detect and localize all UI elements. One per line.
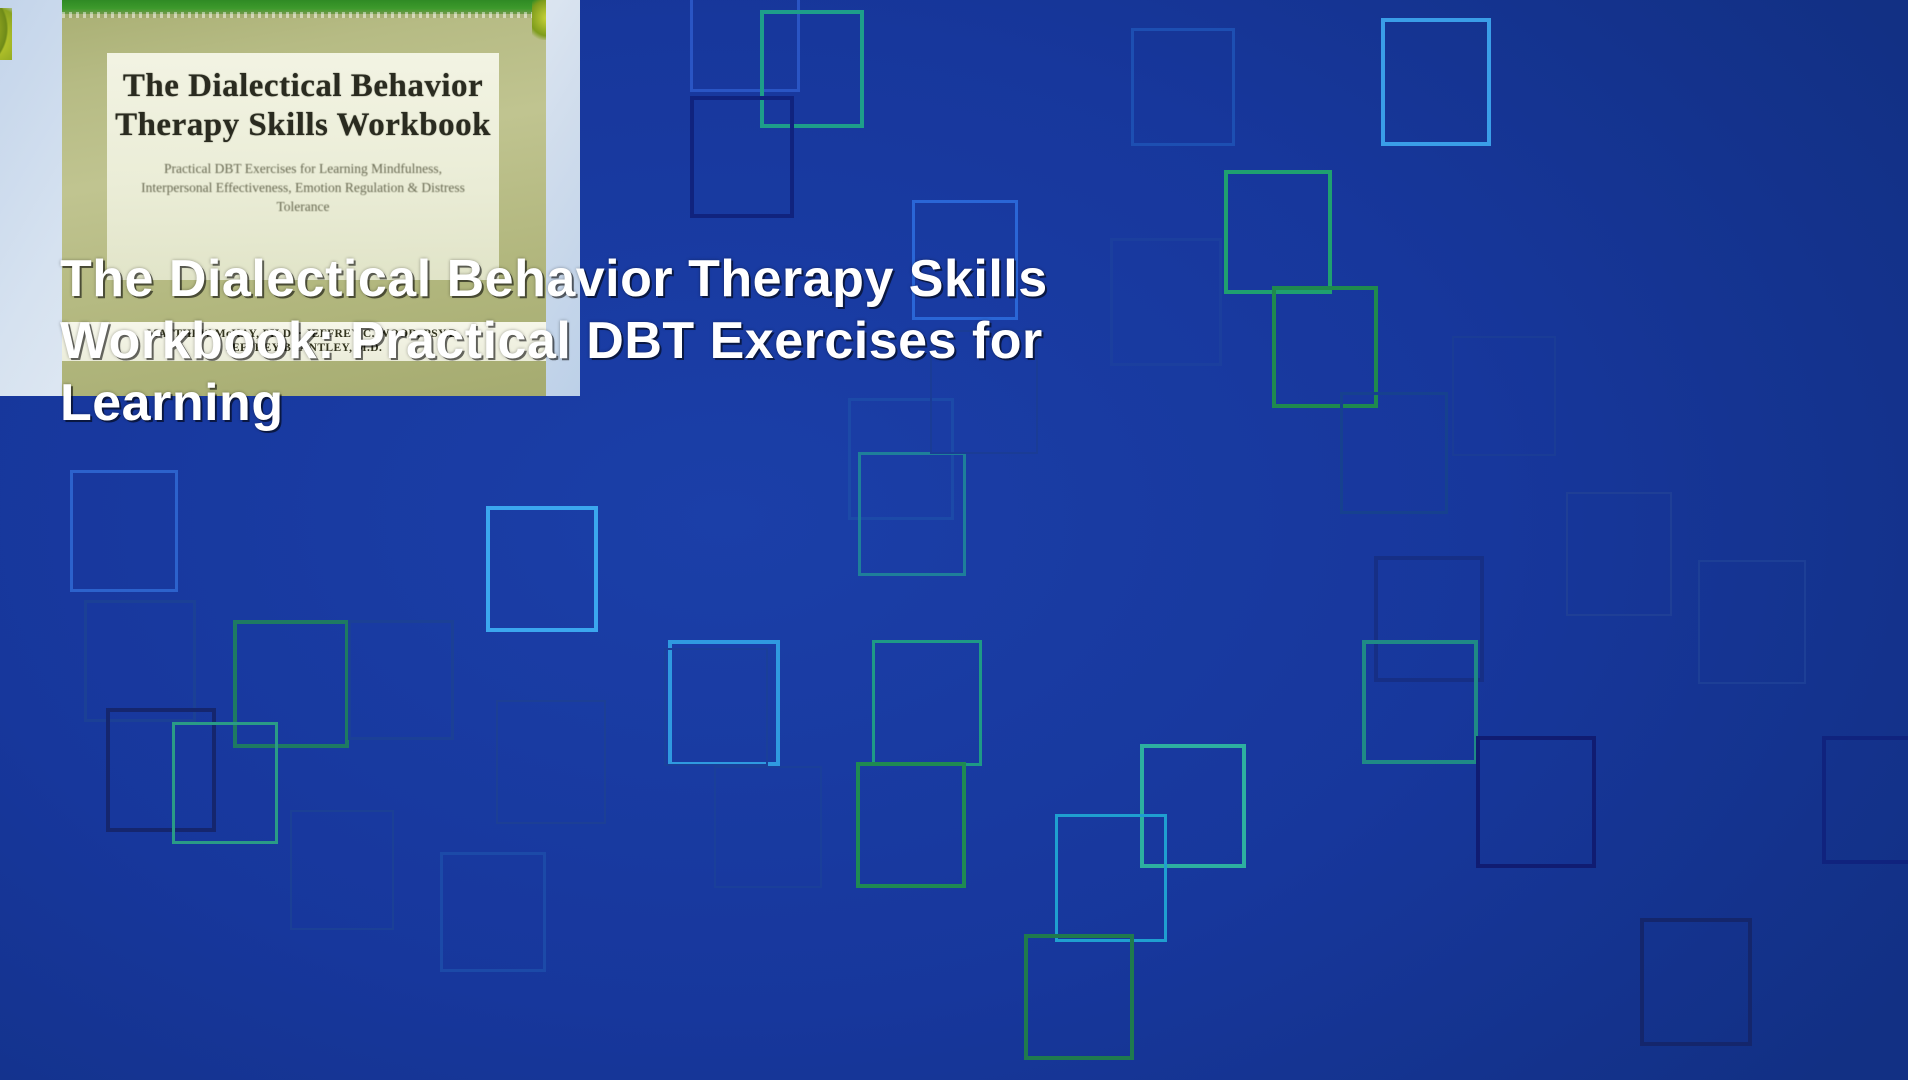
video-thumbnail: The Dialectical Behavior Therapy Skills … [0,0,1908,1080]
background-square [440,852,546,972]
background-square [172,722,278,844]
cover-top-band [62,0,546,14]
leaf-decoration-right-icon [532,0,546,40]
background-square [1566,492,1672,616]
background-square [714,766,822,888]
background-square [1272,286,1378,408]
background-square [856,762,966,888]
background-square [84,600,196,722]
caption-line-1: The Dialectical Behavior Therapy Skills [60,248,1240,310]
background-square [690,96,794,218]
background-square [290,810,394,930]
background-square [858,452,966,576]
background-square [1131,28,1235,146]
background-square [664,648,768,766]
background-square [1476,736,1596,868]
cover-subtitle: Practical DBT Exercises for Learning Min… [107,159,499,216]
background-square [872,640,982,766]
background-square [70,470,178,592]
leaf-decoration-icon [0,8,12,60]
background-square [1340,392,1448,514]
caption-line-2: Workbook: Practical DBT Exercises for [60,310,1240,372]
caption-line-3: Learning [60,372,1240,434]
background-square [1362,640,1478,764]
cover-text-panel: The Dialectical Behavior Therapy Skills … [107,53,499,280]
background-square [486,506,598,632]
background-square [1055,814,1167,942]
background-square [496,700,606,824]
background-square [1224,170,1332,294]
background-square [1698,560,1806,684]
background-square [1452,336,1556,456]
overlay-caption: The Dialectical Behavior Therapy Skills … [60,248,1240,434]
background-square [1822,736,1908,864]
background-square [1381,18,1491,146]
background-square [1024,934,1134,1060]
cover-title: The Dialectical Behavior Therapy Skills … [107,67,499,145]
background-square [1640,918,1752,1046]
background-square [348,620,454,740]
